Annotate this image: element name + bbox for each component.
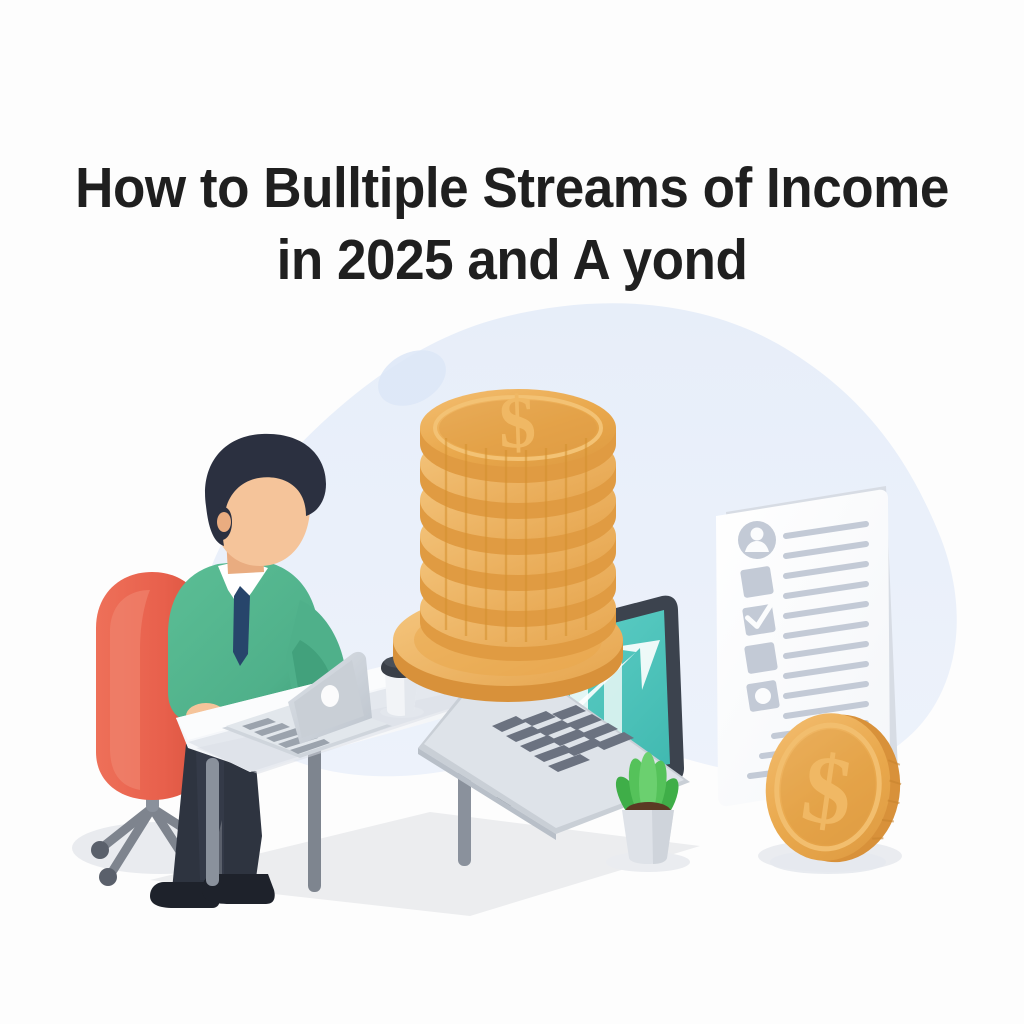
checkbox-1	[740, 566, 774, 598]
desk-leg-mid	[308, 744, 321, 892]
laptop-logo-icon	[321, 685, 339, 707]
desk-leg-left	[206, 758, 219, 886]
checkbox-2-checked	[742, 604, 776, 636]
illustration-canvas: $	[0, 0, 1024, 1024]
page-title-line-2: in 2025 and A yond	[36, 224, 988, 296]
necktie	[233, 586, 250, 666]
ear	[217, 512, 231, 532]
coin-dollar-sign-icon: $	[497, 381, 537, 464]
coin-stack: $	[393, 381, 623, 702]
page-title-line-1: How to Bulltiple Streams of Income	[36, 152, 988, 224]
checkbox-3	[744, 642, 778, 674]
checkbox-4-dot	[746, 680, 780, 712]
avatar-icon	[738, 521, 776, 559]
svg-text:$: $	[497, 381, 537, 464]
page-title: How to Bulltiple Streams of Income in 20…	[36, 152, 988, 296]
